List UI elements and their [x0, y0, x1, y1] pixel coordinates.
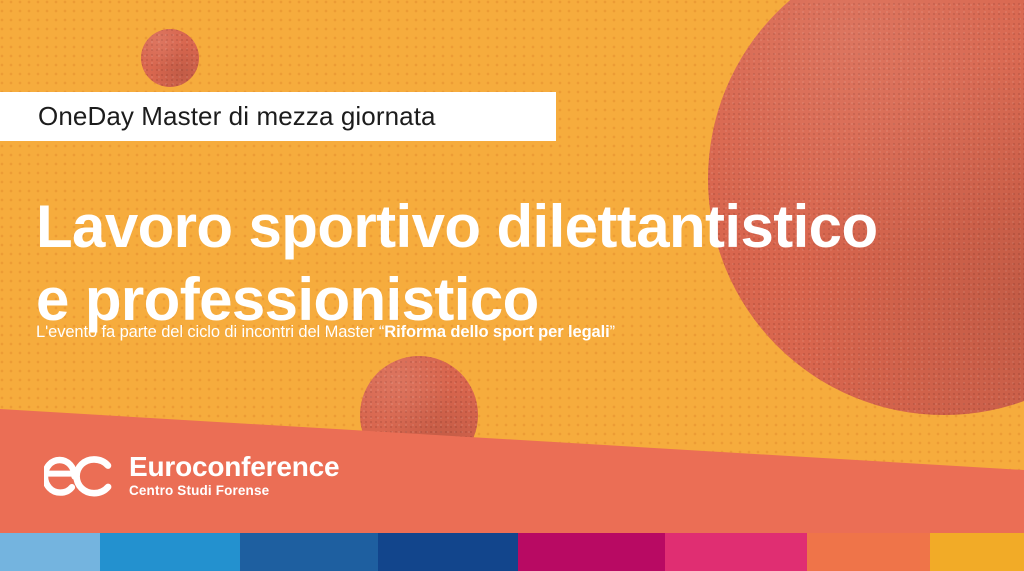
brand-color-strip — [0, 533, 1024, 571]
color-swatch-navy-blue — [378, 533, 518, 571]
color-swatch-amber — [930, 533, 1024, 571]
euroconference-logo: Euroconference Centro Studi Forense — [44, 452, 339, 500]
subtitle-suffix: ” — [610, 323, 615, 341]
color-swatch-pink — [665, 533, 807, 571]
kicker-label: OneDay Master di mezza giornata — [38, 101, 436, 132]
color-swatch-light-blue — [0, 533, 100, 571]
logo-wordmark: Euroconference Centro Studi Forense — [129, 452, 339, 500]
decorative-circle-small — [141, 29, 199, 87]
color-swatch-azure-blue — [100, 533, 240, 571]
logo-subtitle: Centro Studi Forense — [129, 482, 339, 500]
subtitle-master-name: Riforma dello sport per legali — [384, 323, 609, 341]
event-banner: OneDay Master di mezza giornata Lavoro s… — [0, 0, 1024, 571]
color-swatch-orange — [807, 533, 930, 571]
color-swatch-magenta — [518, 533, 665, 571]
circle-grain-texture — [141, 29, 199, 87]
ec-monogram-icon — [44, 453, 116, 499]
subtitle-line: L'evento fa parte del ciclo di incontri … — [36, 323, 615, 342]
page-title: Lavoro sportivo dilettantistico e profes… — [36, 190, 996, 336]
subtitle-prefix: L'evento fa parte del ciclo di incontri … — [36, 323, 384, 341]
kicker-bar: OneDay Master di mezza giornata — [0, 92, 556, 141]
logo-title: Euroconference — [129, 452, 339, 482]
color-swatch-steel-blue — [240, 533, 378, 571]
